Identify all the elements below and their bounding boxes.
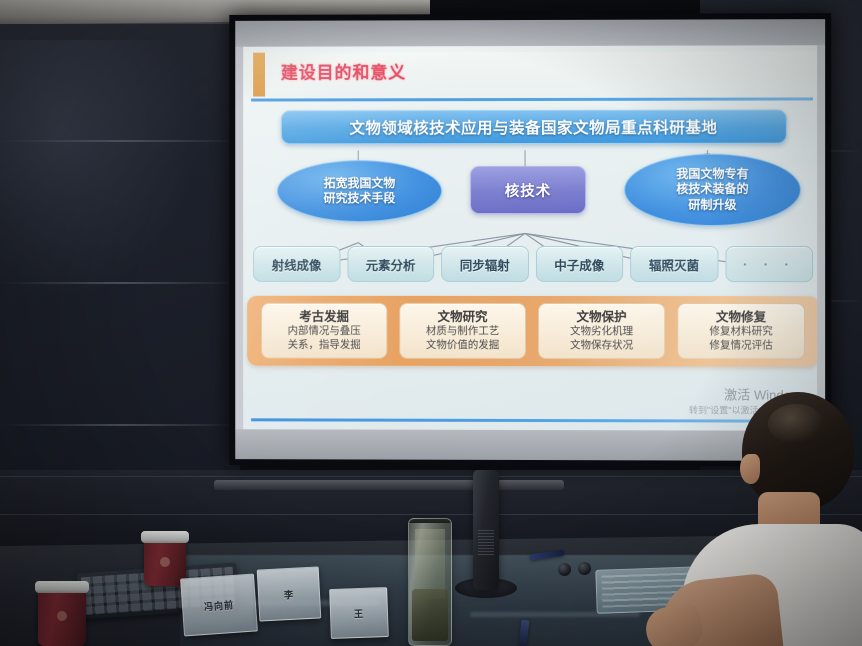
goal-right-line-3: 研制升级 [688,198,736,212]
wall-seam [0,424,240,426]
app-desc-line-2: 文物保存状况 [570,339,633,351]
app-desc-line-1: 材质与制作工艺 [426,325,499,337]
paper-cup[interactable] [38,588,86,646]
goal-left-line-2: 研究技术手段 [324,191,396,205]
node-goal-left[interactable]: 拓宽我国文物 研究技术手段 [277,160,442,222]
app-card-desc: 修复材料研究 修复情况评估 [709,326,772,353]
wall-panel-left [0,24,240,524]
app-card-title: 文物研究 [438,310,488,325]
application-band: 考古发掘 内部情况与叠压 关系，指导发掘 文物研究 材质与制作工艺 文物价值的发… [247,296,817,367]
earbud-left-icon [558,563,571,576]
app-card-title: 考古发掘 [299,309,349,324]
nameplate[interactable]: 李 [257,566,322,621]
app-card-relic-restoration[interactable]: 文物修复 修复材料研究 修复情况评估 [677,303,805,359]
conference-microphone[interactable] [473,470,499,590]
node-goal-right[interactable]: 我国文物专有 核技术装备的 研制升级 [624,154,801,226]
goal-left-line-1: 拓宽我国文物 [324,176,396,190]
title-accent-bar [253,53,265,97]
app-card-desc: 文物劣化机理 文物保存状况 [570,325,633,352]
goal-right-line-1: 我国文物专有 [676,167,748,181]
app-desc-line-2: 关系，指导发掘 [288,339,361,351]
app-desc-line-2: 文物价值的发掘 [426,339,499,351]
nameplate[interactable]: 王 [329,587,389,639]
seated-person [672,392,862,646]
tech-chip-synchrotron[interactable]: 同步辐射 [441,246,528,282]
thermos-tea [412,589,448,641]
slide-title-bar: 建设目的和意义 [243,51,817,96]
thermos-cap [408,518,452,523]
cup-lid [141,531,189,543]
nameplate-text: 王 [354,606,365,621]
app-card-title: 文物修复 [716,310,766,325]
tech-chip-irradiation[interactable]: 辐照灭菌 [630,246,718,282]
app-card-title: 文物保护 [577,310,627,325]
nameplate[interactable]: 冯向前 [180,573,258,636]
microphone-grill [478,530,494,556]
tech-chip-more-ellipsis[interactable]: · · · [725,246,813,282]
screen-top-band [235,19,825,47]
earbuds[interactable] [558,562,598,578]
app-card-desc: 内部情况与叠压 关系，指导发掘 [288,325,361,352]
cup-logo [160,557,170,567]
node-core-technology[interactable]: 核技术 [470,166,586,214]
cup-lid [35,581,89,593]
technology-chip-row: 射线成像 元素分析 同步辐射 中子成像 辐照灭菌 · · · [251,246,815,282]
page-title: 建设目的和意义 [281,58,406,83]
tech-chip-element-analysis[interactable]: 元素分析 [347,246,434,282]
earbud-right-icon [578,562,591,575]
conference-room-scene: 建设目的和意义 [0,0,862,646]
person-ear [740,454,760,484]
app-desc-line-1: 修复材料研究 [709,326,772,338]
app-card-relic-protection[interactable]: 文物保护 文物劣化机理 文物保存状况 [538,303,665,359]
app-desc-line-1: 内部情况与叠压 [288,325,361,337]
person-hair-highlight [768,404,824,444]
screen-roller-bar [214,480,564,490]
tea-thermos[interactable] [408,518,452,646]
app-desc-line-2: 修复情况评估 [709,339,772,351]
wall-seam [0,282,240,284]
nameplate-text: 冯向前 [204,597,235,613]
goal-right-line-2: 核技术装备的 [676,182,748,196]
cup-logo [57,611,67,621]
nameplate-text: 李 [284,587,295,602]
diagram-canvas: 文物领域核技术应用与装备国家文物局重点科研基地 拓宽我国文物 研究技术手段 核技… [243,103,817,416]
node-root[interactable]: 文物领域核技术应用与装备国家文物局重点科研基地 [281,110,787,145]
app-desc-line-1: 文物劣化机理 [570,325,633,337]
app-card-desc: 材质与制作工艺 文物价值的发掘 [426,325,499,352]
app-card-archaeology[interactable]: 考古发掘 内部情况与叠压 关系，指导发掘 [261,303,387,359]
title-divider-rule [251,97,813,101]
tech-chip-neutron-imaging[interactable]: 中子成像 [535,246,623,282]
app-card-relic-research[interactable]: 文物研究 材质与制作工艺 文物价值的发掘 [399,303,526,359]
presentation-slide: 建设目的和意义 [243,45,817,431]
tech-chip-xray-imaging[interactable]: 射线成像 [253,246,340,282]
wall-seam [0,140,240,142]
